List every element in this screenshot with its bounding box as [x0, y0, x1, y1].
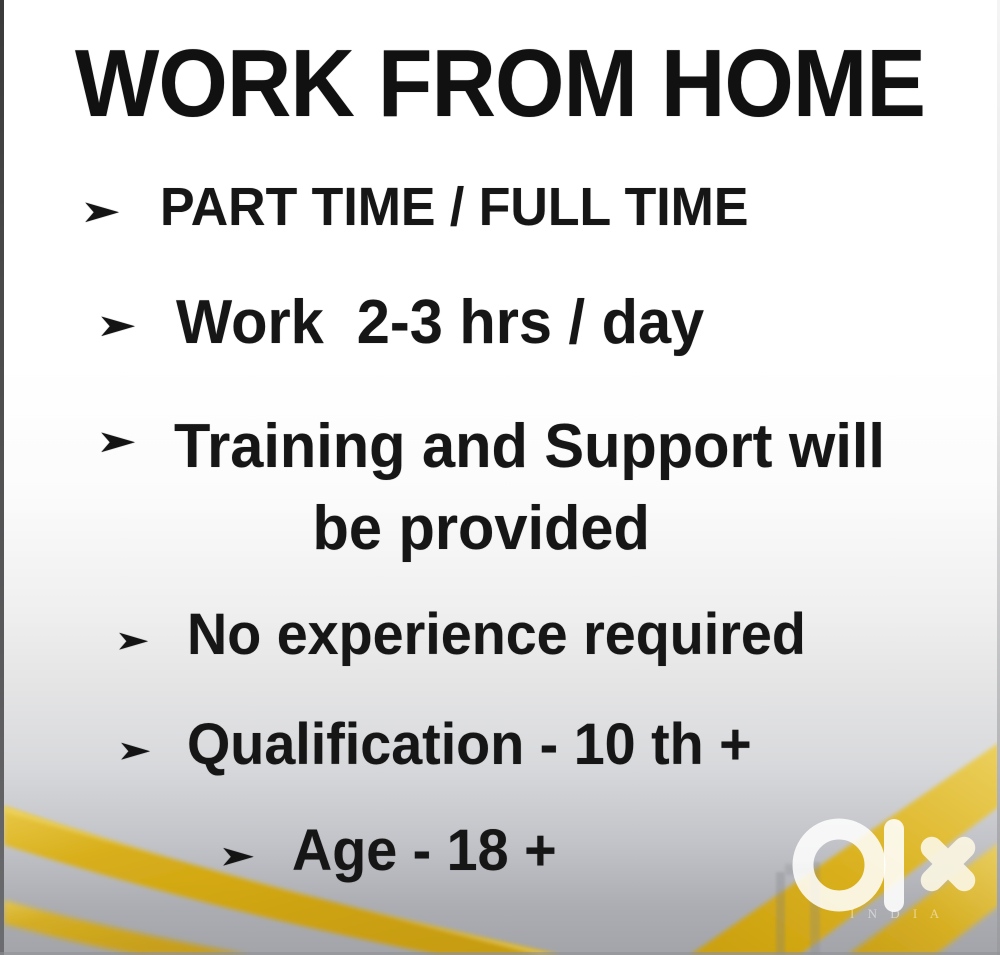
list-item-label: Age - 18 +	[292, 822, 557, 880]
list-item-training-support: ➤ Training and Support will be provided	[0, 406, 1000, 570]
arrow-bullet-icon: ➤	[116, 737, 152, 764]
arrow-bullet-icon: ➤	[80, 196, 122, 227]
list-item-work-hours: ➤ Work 2-3 hrs / day	[0, 292, 1000, 354]
list-item-age: ➤ Age - 18 +	[0, 822, 1000, 880]
list-item-label: Training and Support will be provided	[174, 406, 904, 570]
poster-content: WORK FROM HOME ➤ PART TIME / FULL TIME ➤…	[0, 0, 1000, 955]
list-item-label-line-2: be provided	[174, 488, 904, 570]
arrow-bullet-icon: ➤	[114, 627, 150, 654]
arrow-bullet-icon: ➤	[96, 310, 138, 341]
bullet-list: ➤ PART TIME / FULL TIME ➤ Work 2-3 hrs /…	[0, 180, 1000, 880]
list-item-qualification: ➤ Qualification - 10 th +	[0, 716, 1000, 774]
page-title: WORK FROM HOME	[35, 36, 965, 132]
list-item-label-line-1: Training and Support will	[174, 406, 904, 488]
list-item-label: Qualification - 10 th +	[187, 716, 752, 774]
arrow-bullet-icon: ➤	[218, 842, 256, 870]
left-edge-border	[0, 0, 4, 955]
list-item-label: Work 2-3 hrs / day	[176, 292, 704, 354]
arrow-bullet-icon: ➤	[96, 426, 138, 457]
list-item-no-experience: ➤ No experience required	[0, 606, 1000, 664]
list-item-label: No experience required	[187, 606, 806, 664]
list-item-part-time-full-time: ➤ PART TIME / FULL TIME	[0, 180, 1000, 234]
list-item-label: PART TIME / FULL TIME	[160, 180, 748, 234]
work-from-home-poster: WORK FROM HOME ➤ PART TIME / FULL TIME ➤…	[0, 0, 1000, 955]
